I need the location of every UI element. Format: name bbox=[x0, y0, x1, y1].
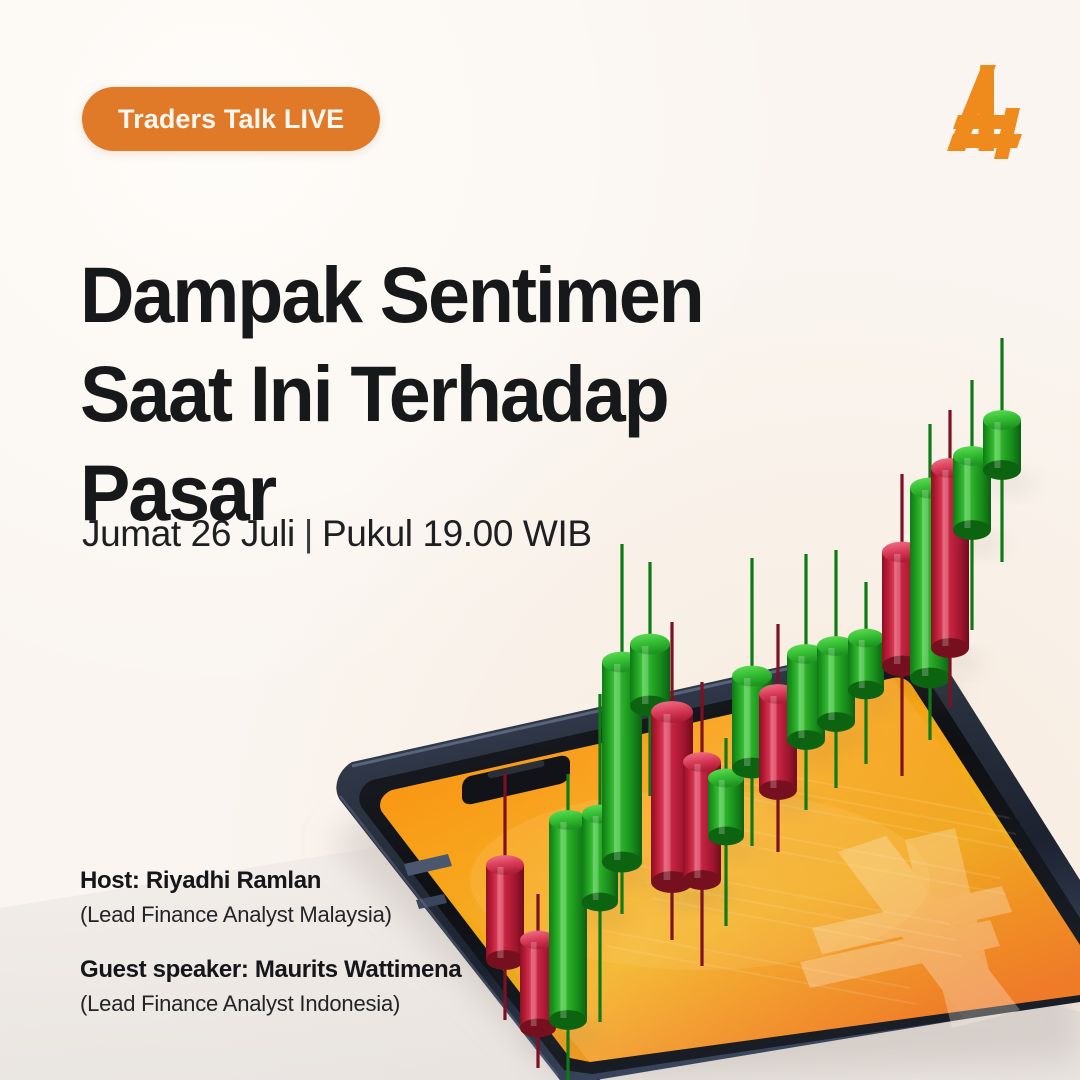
schedule-time: Pukul 19.00 WIB bbox=[322, 513, 592, 554]
speaker-credits: Host: Riyadhi Ramlan (Lead Finance Analy… bbox=[80, 866, 600, 1019]
page-title-line-1: Dampak Sentimen bbox=[80, 245, 806, 344]
credit-host: Host: Riyadhi Ramlan (Lead Finance Analy… bbox=[80, 866, 600, 929]
schedule-date: Jumat 26 Juli bbox=[82, 513, 295, 554]
credit-host-role: (Lead Finance Analyst Malaysia) bbox=[80, 900, 600, 930]
page-title-line-2: Saat Ini Terhadap bbox=[80, 344, 806, 443]
credit-guest: Guest speaker: Maurits Wattimena (Lead F… bbox=[80, 955, 600, 1018]
schedule-line: Jumat 26 Juli|Pukul 19.00 WIB bbox=[82, 513, 592, 555]
brand-logo-a-icon bbox=[934, 58, 1038, 162]
promo-card: Traders Talk LIVE Dampak Sentimen Saat I… bbox=[0, 0, 1080, 1080]
credit-guest-role: (Lead Finance Analyst Indonesia) bbox=[80, 989, 600, 1019]
live-badge[interactable]: Traders Talk LIVE bbox=[82, 87, 380, 151]
credit-host-name: Host: Riyadhi Ramlan bbox=[80, 866, 600, 897]
live-badge-label: Traders Talk LIVE bbox=[118, 104, 344, 135]
credit-guest-name: Guest speaker: Maurits Wattimena bbox=[80, 955, 600, 986]
page-title: Dampak Sentimen Saat Ini Terhadap Pasar bbox=[80, 245, 806, 542]
schedule-separator: | bbox=[295, 513, 322, 555]
